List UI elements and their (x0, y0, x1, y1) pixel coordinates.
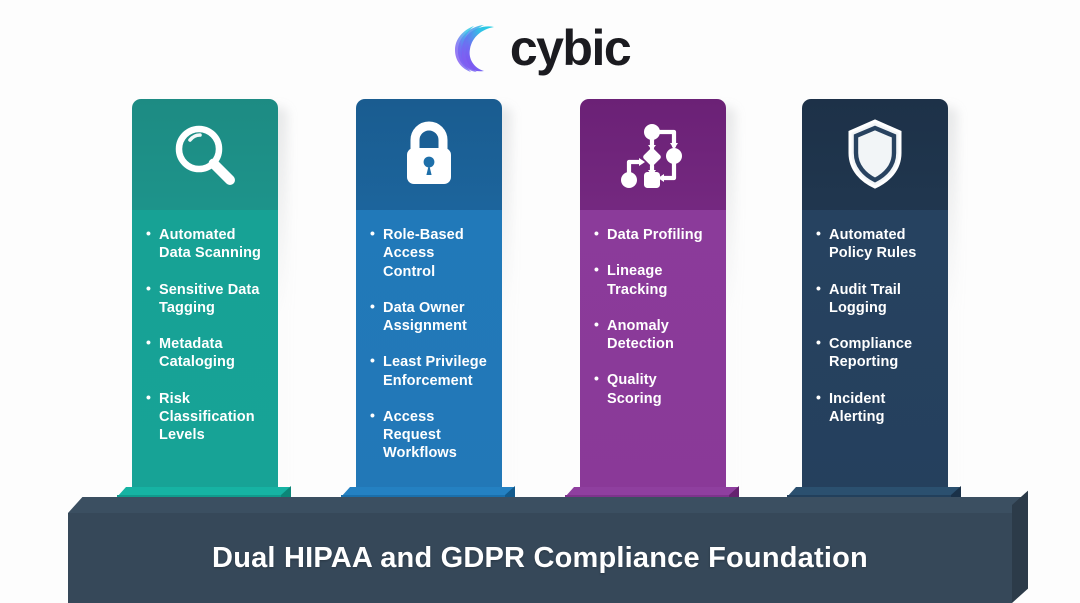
pillar-card: Role-Based Access Control Data Owner Ass… (356, 99, 502, 503)
list-item: Automated Policy Rules (816, 226, 936, 263)
shield-icon (840, 115, 910, 195)
pillar-compliance-controls[interactable]: Automated Policy Rules Audit Trail Loggi… (802, 99, 948, 503)
list-item: Quality Scoring (594, 371, 714, 408)
feature-list: Automated Policy Rules Audit Trail Loggi… (816, 226, 936, 426)
list-item: Role-Based Access Control (370, 226, 490, 281)
pillar-access-governance[interactable]: Role-Based Access Control Data Owner Ass… (356, 99, 502, 503)
list-item: Audit Trail Logging (816, 281, 936, 318)
list-item: Risk Classification Levels (146, 390, 266, 445)
pillar-card: Automated Policy Rules Audit Trail Loggi… (802, 99, 948, 503)
list-item: Automated Data Scanning (146, 226, 266, 263)
list-item: Least Privilege Enforcement (370, 353, 490, 390)
list-item: Compliance Reporting (816, 335, 936, 372)
foundation-title: Dual HIPAA and GDPR Compliance Foundatio… (68, 513, 1012, 603)
data-flow-diagram-icon (614, 118, 692, 192)
pillar-icon-header (132, 99, 278, 210)
pillar-data-quality[interactable]: Data Profiling Lineage Tracking Anomaly … (580, 99, 726, 503)
magnifying-glass-icon (168, 118, 242, 192)
list-item: Data Owner Assignment (370, 299, 490, 336)
pillar-icon-header (802, 99, 948, 210)
foundation-side-face (1012, 491, 1028, 603)
pillar-data-discovery[interactable]: Automated Data Scanning Sensitive Data T… (132, 99, 278, 503)
pillar-feature-list: Automated Policy Rules Audit Trail Loggi… (802, 210, 948, 503)
feature-list: Role-Based Access Control Data Owner Ass… (370, 226, 490, 463)
pillar-icon-header (356, 99, 502, 210)
padlock-icon (394, 117, 464, 193)
list-item: Metadata Cataloging (146, 335, 266, 372)
feature-list: Automated Data Scanning Sensitive Data T… (146, 226, 266, 444)
infographic-stage: Automated Data Scanning Sensitive Data T… (0, 0, 1080, 603)
pillar-icon-header (580, 99, 726, 210)
list-item: Data Profiling (594, 226, 714, 244)
list-item: Lineage Tracking (594, 262, 714, 299)
list-item: Access Request Workflows (370, 408, 490, 463)
foundation-top-face (68, 497, 1026, 513)
list-item: Incident Alerting (816, 390, 936, 427)
list-item: Sensitive Data Tagging (146, 281, 266, 318)
pillar-card: Automated Data Scanning Sensitive Data T… (132, 99, 278, 503)
list-item: Anomaly Detection (594, 317, 714, 354)
pillar-feature-list: Role-Based Access Control Data Owner Ass… (356, 210, 502, 503)
pillar-feature-list: Automated Data Scanning Sensitive Data T… (132, 210, 278, 503)
pillar-card: Data Profiling Lineage Tracking Anomaly … (580, 99, 726, 503)
feature-list: Data Profiling Lineage Tracking Anomaly … (594, 226, 714, 408)
pillar-feature-list: Data Profiling Lineage Tracking Anomaly … (580, 210, 726, 503)
